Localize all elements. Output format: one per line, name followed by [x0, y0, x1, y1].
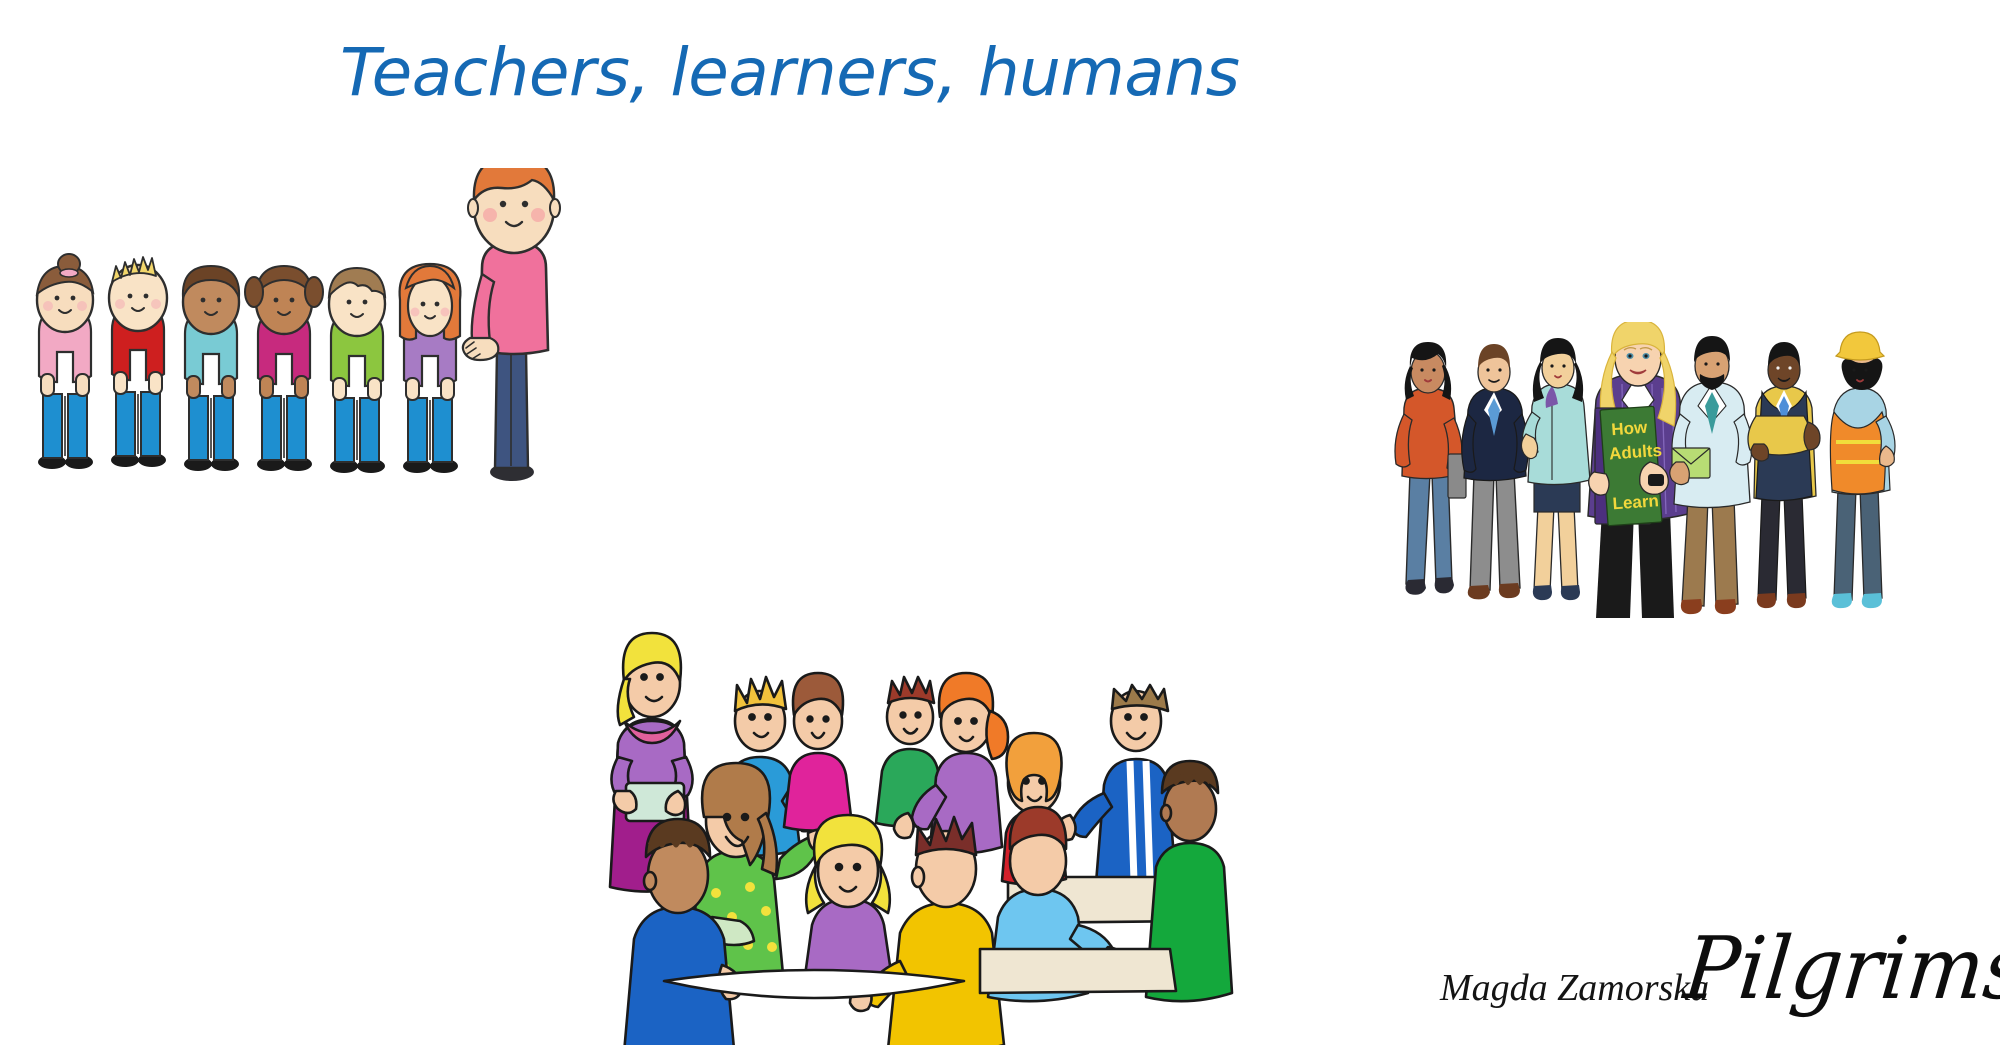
- author-name: Magda Zamorska: [1440, 966, 1709, 1010]
- discussion-figure-woman-blonde-purple: [804, 815, 892, 987]
- child-figure: [183, 266, 239, 471]
- page-title: Teachers, learners, humans: [340, 38, 1540, 107]
- children-and-teacher-illustration: [22, 168, 582, 498]
- child-figure: [329, 268, 385, 473]
- child-figure: [400, 264, 461, 473]
- adult-figure-businessman: [1462, 344, 1529, 599]
- slide-footer: Magda Zamorska Pilgrims: [1440, 930, 1985, 1040]
- book-line-1: How: [1611, 418, 1649, 440]
- adult-figure-doctor: [1670, 336, 1752, 614]
- pilgrims-logo: Pilgrims: [1680, 926, 2000, 1012]
- discussion-figure-man-blue-stripe: [1056, 685, 1176, 888]
- teacher-figure: [463, 168, 560, 481]
- adult-figure-man-vest: [1748, 342, 1820, 608]
- discussion-figure-woman-magenta: [784, 673, 852, 831]
- child-figure: [37, 254, 93, 469]
- adult-figure-worker-hardhat: [1830, 332, 1895, 608]
- adult-professionals-illustration: How Adults Learn: [1390, 322, 1990, 622]
- child-figure: [245, 266, 323, 471]
- slide-canvas: Teachers, learners, humans: [0, 0, 2000, 1055]
- book-line-2: Adults: [1608, 441, 1662, 464]
- child-figure: [109, 257, 167, 467]
- adult-figure-nurse: [1521, 338, 1590, 600]
- adult-figure-woman-casual: [1395, 342, 1466, 595]
- group-discussion-illustration: [600, 625, 1240, 1045]
